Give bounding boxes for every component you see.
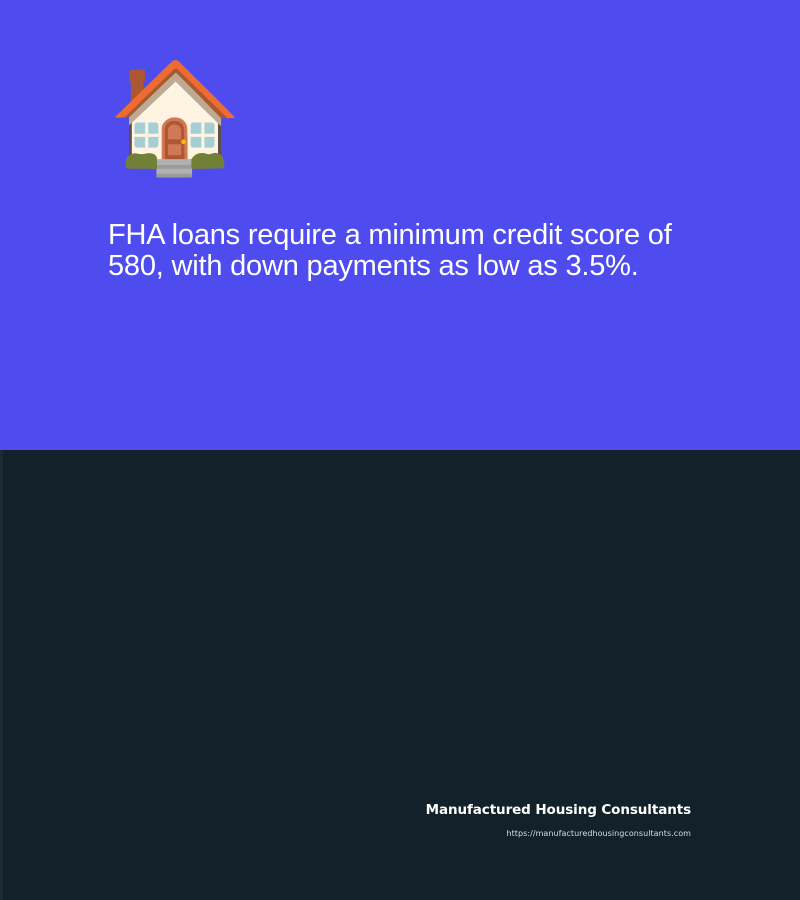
fha-headline-text: FHA loans require a minimum credit score… bbox=[108, 220, 694, 281]
house-emoji-icon: 🏠 bbox=[108, 64, 242, 172]
brand-url[interactable]: https://manufacturedhousingconsultants.c… bbox=[426, 829, 691, 838]
brand-name: Manufactured Housing Consultants bbox=[426, 802, 691, 818]
footer-text-group: Manufactured Housing Consultants https:/… bbox=[426, 802, 691, 838]
panel-fha: 🏠 FHA loans require a minimum credit sco… bbox=[0, 0, 800, 450]
footer-branding: Manufactured Housing Consultants https:/… bbox=[0, 790, 800, 900]
slide-canvas: 🏠 FHA loans require a minimum credit sco… bbox=[0, 0, 800, 900]
